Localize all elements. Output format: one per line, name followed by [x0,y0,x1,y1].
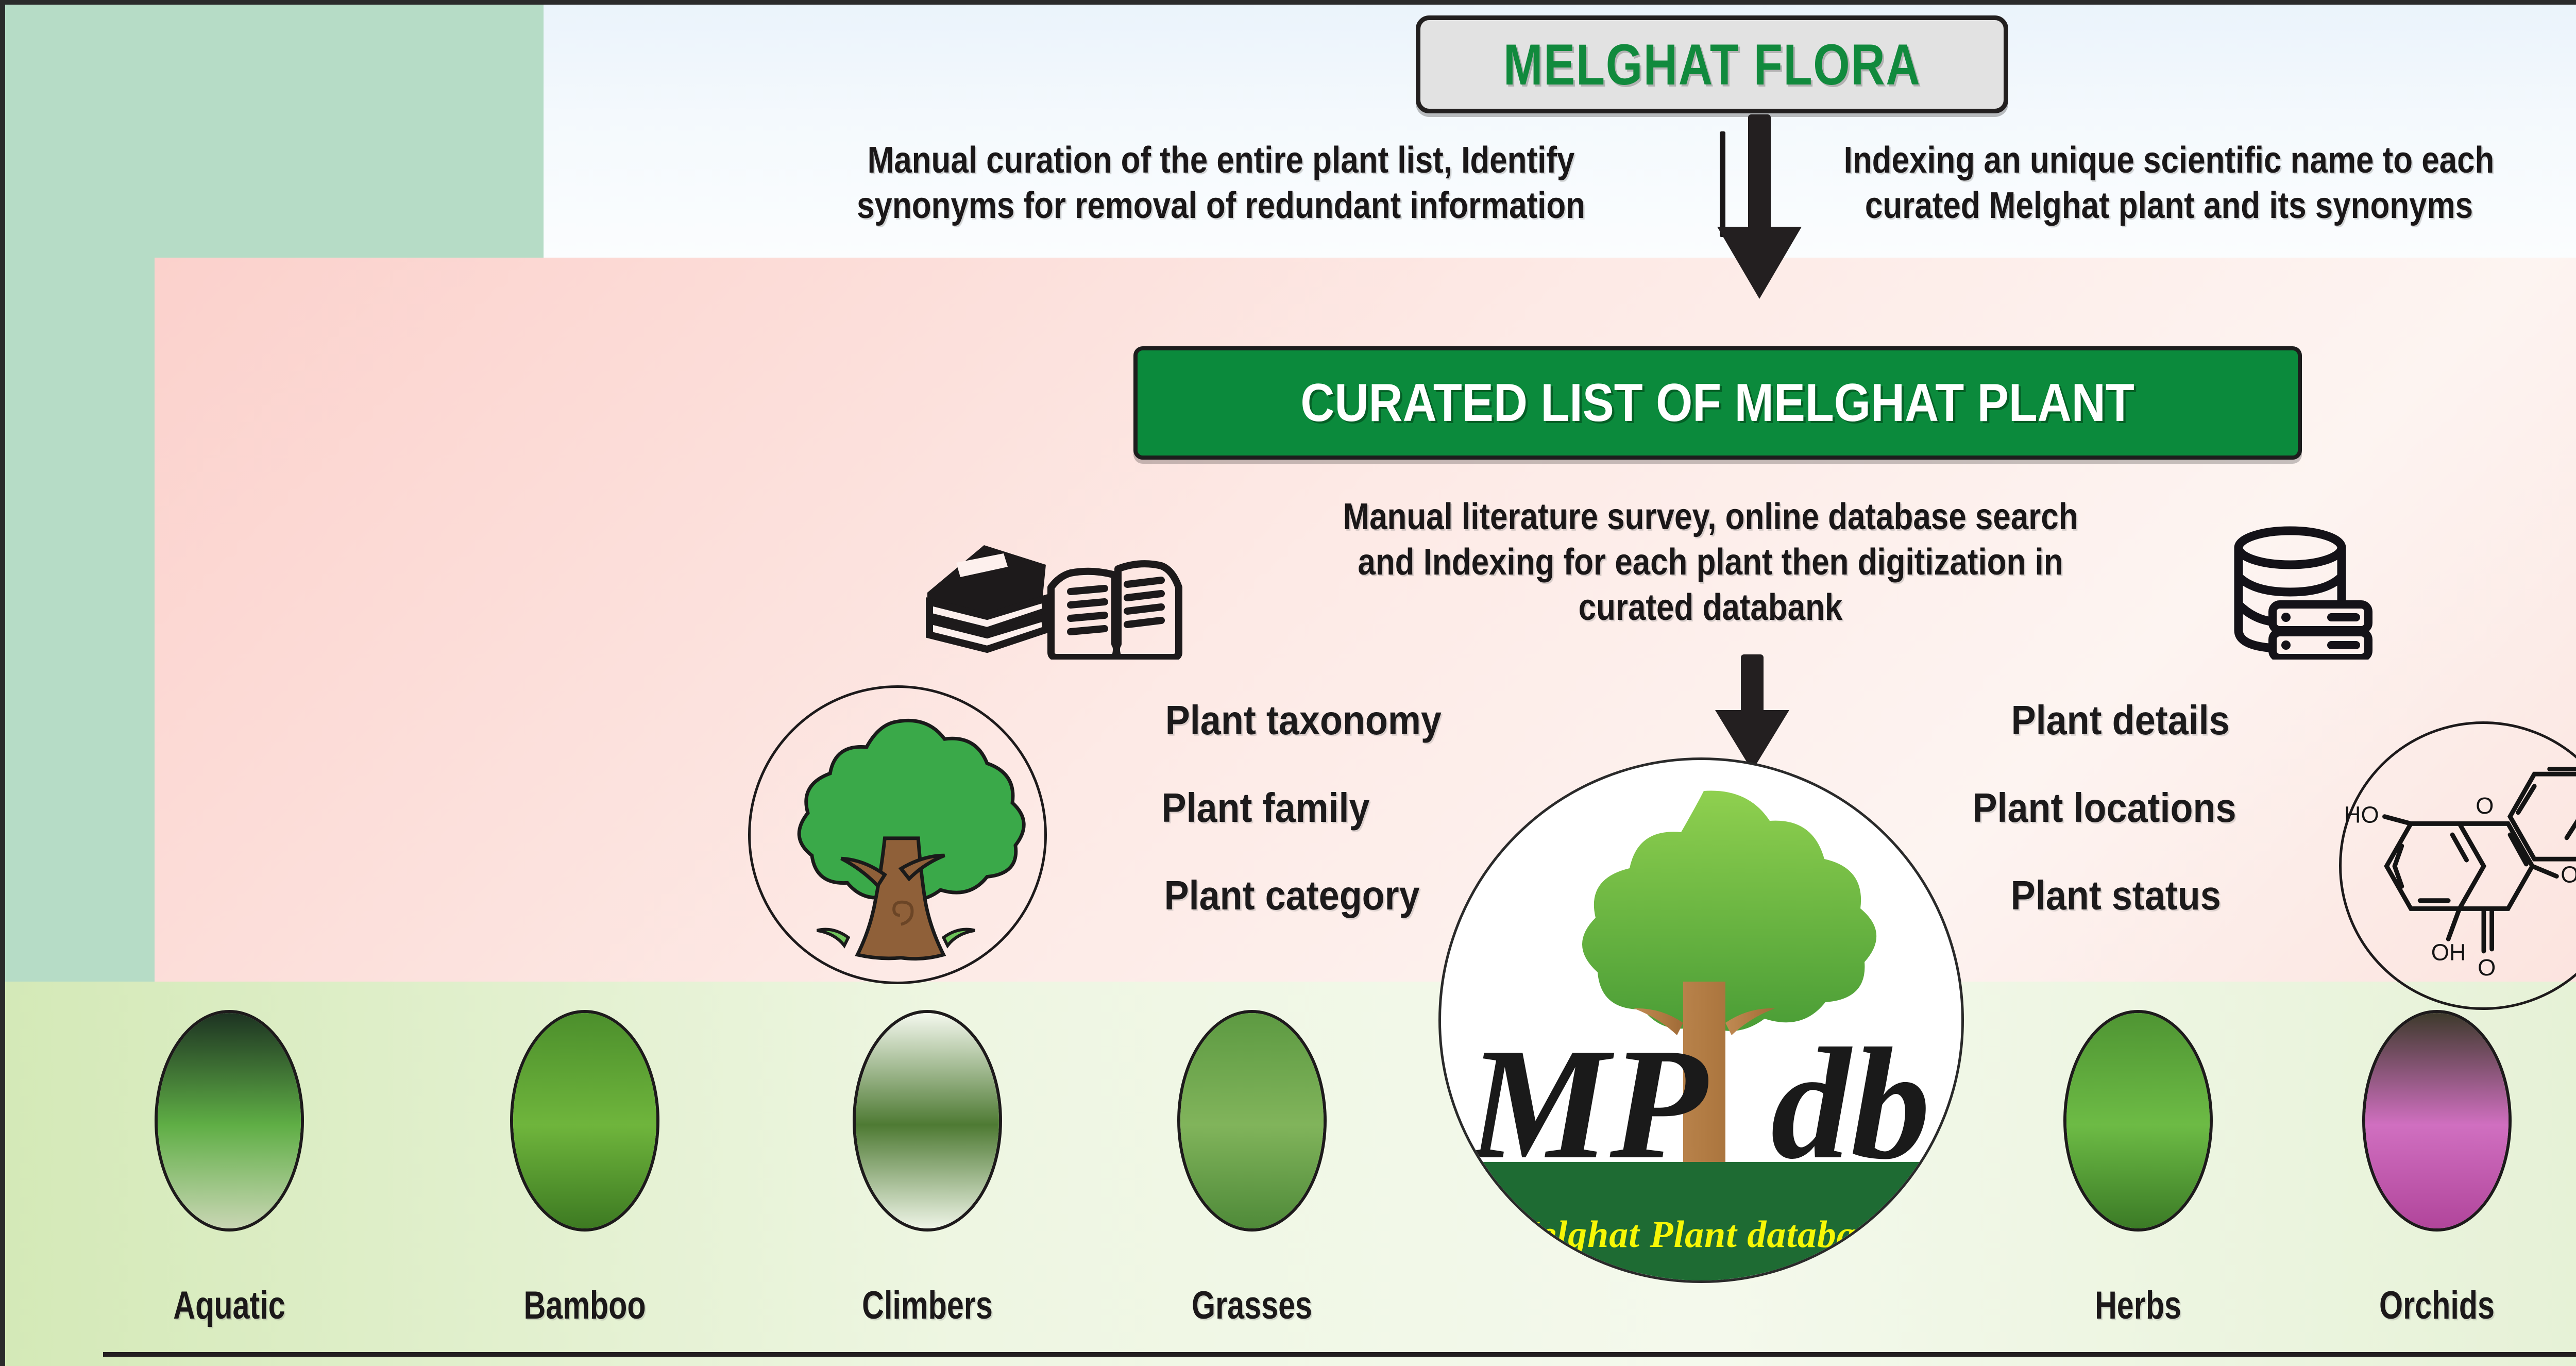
category-label-bamboo: Bamboo [504,1283,665,1328]
category-photo-orchids[interactable] [2362,1010,2512,1232]
category-photo-fill [856,1013,999,1228]
category-label-herbs: Herbs [2058,1283,2218,1328]
page-title: MELGHAT FLORA [1503,31,1921,98]
database-icon [2208,523,2378,660]
curated-list-banner: CURATED LIST OF MELGHAT PLANT [1133,346,2302,460]
feature-right-0: Plant details [2011,697,2230,744]
annotation-indexing-text: Indexing an unique scientific name to ea… [1788,138,2550,229]
books-icon [907,515,1195,660]
category-photo-fill [158,1013,301,1228]
feature-left-2: Plant category [1164,872,1420,919]
curated-list-label: CURATED LIST OF MELGHAT PLANT [1301,373,2134,434]
chem-label-ho: HO [2344,801,2379,828]
category-photo-aquatic[interactable] [155,1010,304,1232]
infographic-canvas: MELGHAT FLORA Manual curation of the ent… [0,0,2576,1366]
logo-tagline: Melghat Plant databank [1441,1213,1961,1257]
annotation-curation-text: Manual curation of the entire plant list… [805,138,1638,229]
mpdb-logo: MP db Melghat Plant databank [1438,757,1964,1283]
category-photo-fill [1180,1013,1324,1228]
feature-right-2: Plant status [2011,872,2221,919]
category-label-orchids: Orchids [2357,1283,2517,1328]
category-label-climbers: Climbers [847,1283,1008,1328]
feature-left-0: Plant taxonomy [1165,697,1442,744]
melghat-flora-title-plate: MELGHAT FLORA [1416,15,2008,113]
category-photo-fill [2066,1013,2210,1228]
chemical-structure-circle: HO O OH OH O OH [2339,721,2576,1010]
chem-label-carbonyl-o: O [2478,954,2496,981]
category-photo-climbers[interactable] [853,1010,1002,1232]
flow-arrow-down-primary [1716,114,1803,297]
chem-label-ring-o: O [2476,792,2494,819]
category-photo-bamboo[interactable] [510,1010,659,1232]
category-photo-grasses[interactable] [1177,1010,1327,1232]
feature-right-1: Plant locations [1972,784,2236,832]
chem-label-oh-3: OH [2561,861,2576,887]
category-photo-fill [2365,1013,2509,1228]
tree-illustration-circle [748,685,1047,984]
annotation-literature-text: Manual literature survey, online databas… [1312,495,2109,630]
feature-left-1: Plant family [1161,784,1369,832]
chem-label-oh-5: OH [2431,939,2466,966]
canvas-left-border [0,0,5,1366]
category-photo-fill [513,1013,656,1228]
category-label-aquatic: Aquatic [149,1283,310,1328]
category-photo-herbs[interactable] [2063,1010,2213,1232]
bottom-divider-rule [103,1352,2576,1357]
category-label-grasses: Grasses [1172,1283,1332,1328]
canvas-top-border [0,0,2576,5]
